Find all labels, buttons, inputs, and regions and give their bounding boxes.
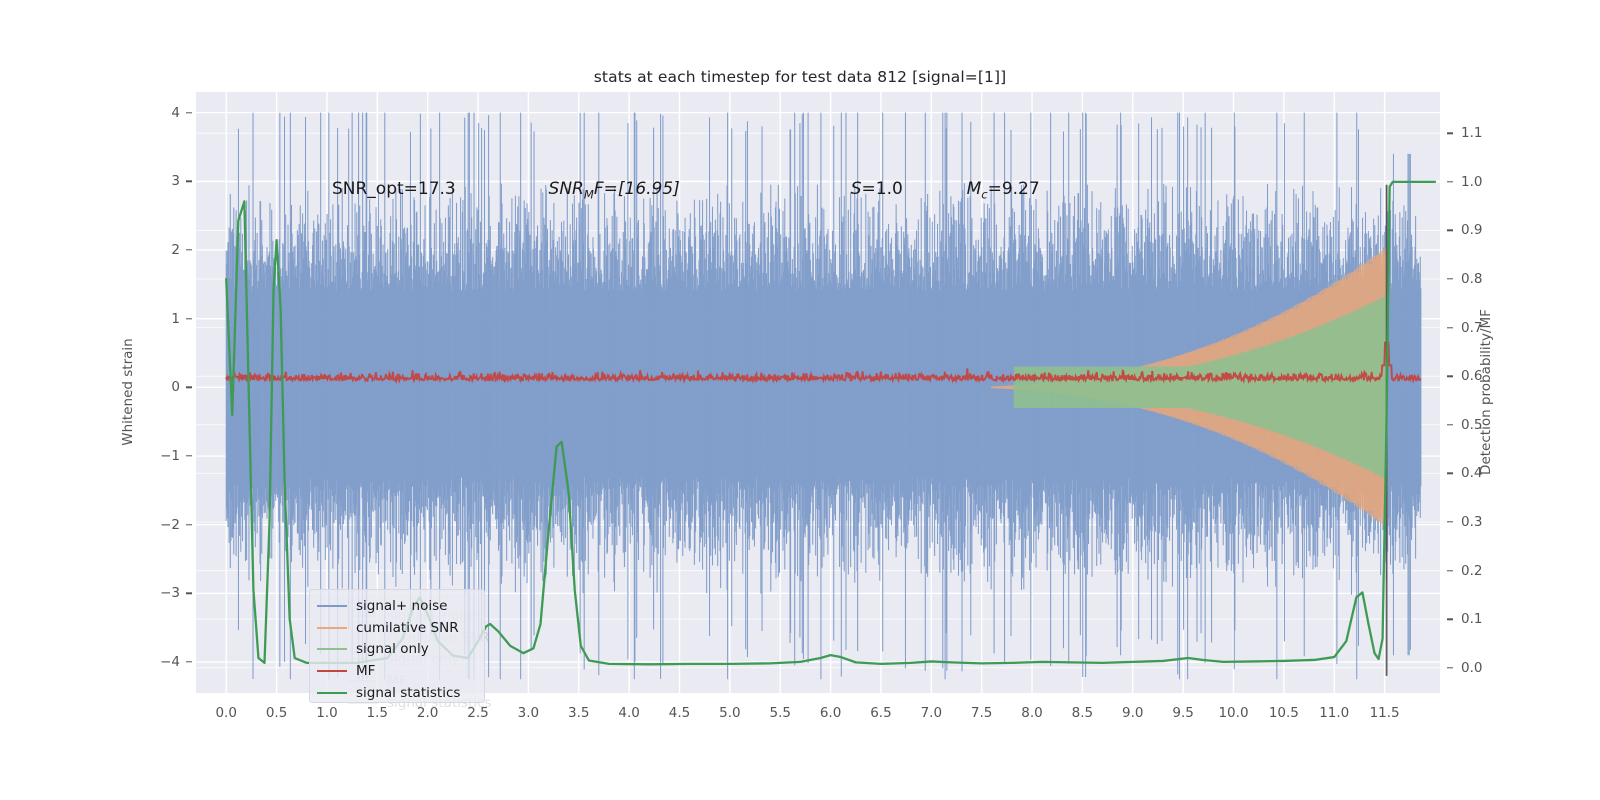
legend-item[interactable]: signal+ noise — [317, 595, 476, 617]
x-tick-label: 1.0 — [316, 705, 337, 721]
x-tick-label: 0.5 — [266, 705, 287, 721]
x-tick-label: 9.0 — [1122, 705, 1143, 721]
y-tick-mark-left — [186, 455, 192, 456]
y-tick-mark-left — [186, 249, 192, 250]
legend-line-icon — [317, 648, 347, 650]
y-axis-label-right: Detection probability/MF — [1478, 309, 1494, 475]
x-tick-label: 4.5 — [669, 705, 690, 721]
x-tick-label: 11.5 — [1370, 705, 1400, 721]
y-tick-mark-right — [1447, 424, 1453, 425]
legend-item-label: signal+ noise — [356, 598, 447, 614]
legend-line-icon — [317, 692, 347, 694]
y-tick-mark-right — [1447, 133, 1453, 134]
y-tick-mark-right — [1447, 230, 1453, 231]
y-tick-label-left: 0 — [134, 379, 180, 395]
y-tick-label-right: 1.0 — [1461, 174, 1507, 190]
x-tick-label: 1.5 — [367, 705, 388, 721]
legend-box[interactable]: signal+ noisecumilative SNRsignal onlyMF… — [309, 589, 485, 703]
legend-item[interactable]: signal statistics — [317, 682, 476, 704]
y-tick-mark-right — [1447, 521, 1453, 522]
y-tick-mark-left — [186, 387, 192, 388]
legend-line-icon — [317, 605, 347, 607]
legend-item[interactable]: cumilative SNR — [317, 617, 476, 639]
x-tick-label: 11.0 — [1319, 705, 1349, 721]
y-tick-mark-right — [1447, 667, 1453, 668]
y-tick-mark-right — [1447, 376, 1453, 377]
y-tick-label-right: 0.0 — [1461, 660, 1507, 676]
y-tick-mark-left — [186, 524, 192, 525]
y-tick-label-right: 0.8 — [1461, 271, 1507, 287]
y-axis-label-left: Whitened strain — [120, 338, 136, 445]
annotation-s-value: S=1.0 — [851, 179, 903, 199]
annotation-snr-opt: SNR_opt=17.3 — [332, 179, 456, 199]
x-tick-label: 2.5 — [467, 705, 488, 721]
y-tick-label-right: 0.3 — [1461, 514, 1507, 530]
x-tick-label: 7.0 — [921, 705, 942, 721]
y-tick-label-right: 0.2 — [1461, 563, 1507, 579]
y-tick-label-left: −3 — [134, 585, 180, 601]
x-tick-label: 6.0 — [820, 705, 841, 721]
annotation-mchirp: Mc=9.27 — [967, 179, 1040, 201]
x-tick-label: 5.5 — [769, 705, 790, 721]
x-tick-label: 0.0 — [215, 705, 236, 721]
legend-line-icon — [317, 627, 347, 629]
y-tick-label-left: 2 — [134, 242, 180, 258]
y-tick-mark-left — [186, 112, 192, 113]
legend-line-icon — [317, 670, 347, 672]
y-tick-label-left: −1 — [134, 448, 180, 464]
legend-item-label: signal statistics — [356, 685, 460, 701]
y-tick-mark-left — [186, 181, 192, 182]
y-tick-mark-right — [1447, 327, 1453, 328]
y-tick-label-right: 0.9 — [1461, 222, 1507, 238]
x-tick-label: 8.5 — [1072, 705, 1093, 721]
x-tick-label: 10.0 — [1218, 705, 1248, 721]
legend-item-label: signal only — [356, 641, 429, 657]
annotation-snr-mf: SNRMF=[16.95] — [549, 179, 680, 201]
x-tick-label: 3.0 — [518, 705, 539, 721]
y-tick-label-left: 4 — [134, 105, 180, 121]
y-tick-mark-right — [1447, 278, 1453, 279]
y-tick-label-left: 3 — [134, 173, 180, 189]
y-tick-mark-left — [186, 318, 192, 319]
x-tick-label: 4.0 — [618, 705, 639, 721]
x-tick-label: 7.5 — [971, 705, 992, 721]
y-tick-mark-right — [1447, 570, 1453, 571]
y-tick-mark-right — [1447, 473, 1453, 474]
y-tick-label-left: −4 — [134, 654, 180, 670]
x-tick-label: 3.5 — [568, 705, 589, 721]
y-tick-label-left: 1 — [134, 311, 180, 327]
x-tick-label: 8.0 — [1021, 705, 1042, 721]
y-tick-mark-right — [1447, 618, 1453, 619]
page-title: stats at each timestep for test data 812… — [0, 68, 1600, 86]
y-tick-label-left: −2 — [134, 517, 180, 533]
figure-canvas: stats at each timestep for test data 812… — [0, 0, 1600, 800]
y-tick-mark-right — [1447, 181, 1453, 182]
y-tick-mark-left — [186, 661, 192, 662]
legend-item[interactable]: MF — [317, 660, 476, 682]
y-tick-label-right: 0.1 — [1461, 611, 1507, 627]
y-tick-label-right: 1.1 — [1461, 125, 1507, 141]
x-tick-label: 2.0 — [417, 705, 438, 721]
legend-item[interactable]: signal only — [317, 639, 476, 661]
legend-item-label: MF — [356, 663, 375, 679]
x-tick-label: 5.0 — [719, 705, 740, 721]
x-tick-label: 9.5 — [1172, 705, 1193, 721]
x-tick-label: 6.5 — [870, 705, 891, 721]
legend-item-label: cumilative SNR — [356, 620, 459, 636]
y-tick-mark-left — [186, 593, 192, 594]
x-tick-label: 10.5 — [1269, 705, 1299, 721]
